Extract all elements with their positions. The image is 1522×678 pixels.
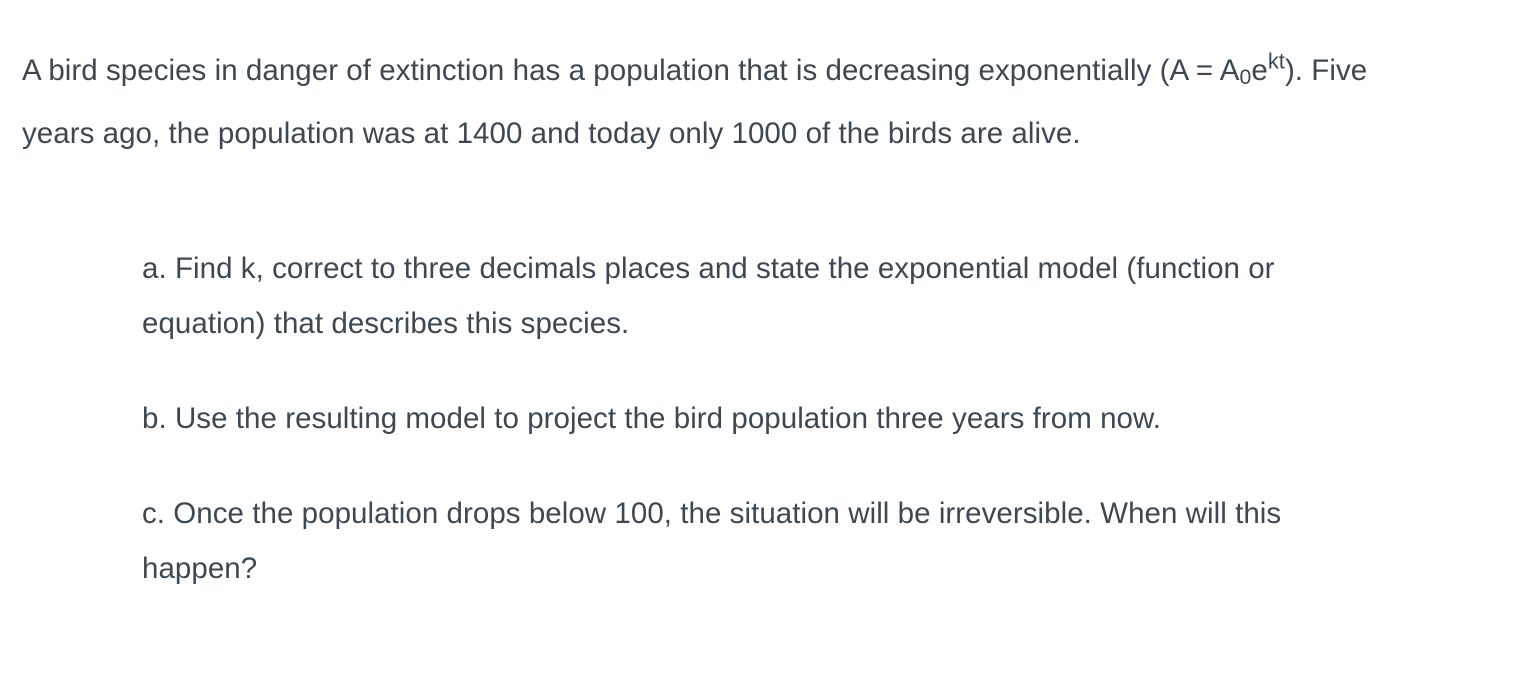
question-list: a. Find k, correct to three decimals pla… — [142, 241, 1412, 596]
exponential-formula: 0ekt — [1240, 54, 1285, 87]
question-item-c: c. Once the population drops below 100, … — [142, 486, 1404, 596]
formula-exponent-kt: kt — [1268, 48, 1285, 73]
formula-euler: e — [1251, 54, 1267, 87]
problem-statement: A bird species in danger of extinction h… — [22, 39, 1422, 165]
question-item-a: a. Find k, correct to three decimals pla… — [142, 241, 1404, 351]
problem-statement-part1: A bird species in danger of extinction h… — [22, 54, 1240, 87]
question-item-b: b. Use the resulting model to project th… — [142, 391, 1394, 446]
document-page: A bird species in danger of extinction h… — [0, 0, 1522, 678]
formula-subscript-zero: 0 — [1240, 64, 1252, 88]
